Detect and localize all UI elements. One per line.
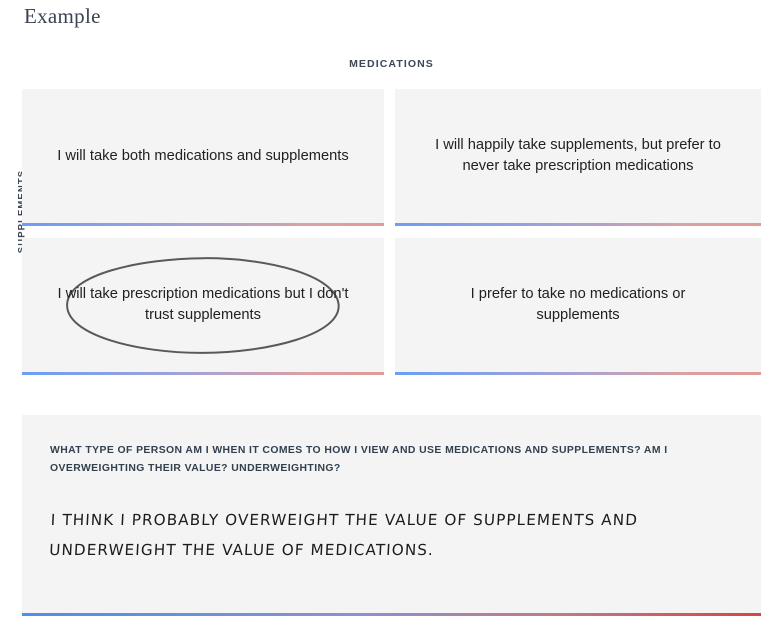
cell-accent-underline <box>22 223 384 226</box>
matrix-cell-top-right[interactable]: I will happily take supplements, but pre… <box>395 89 761 223</box>
matrix-top-axis-label: MEDICATIONS <box>22 58 761 70</box>
cell-accent-underline <box>395 223 761 226</box>
cell-accent-underline <box>395 372 761 375</box>
matrix-cell-bottom-left[interactable]: I will take prescription medications but… <box>22 238 384 372</box>
notes-panel[interactable]: WHAT TYPE OF PERSON AM I WHEN IT COMES T… <box>22 415 761 613</box>
notes-question-prompt: WHAT TYPE OF PERSON AM I WHEN IT COMES T… <box>50 442 690 478</box>
notes-answer-text[interactable]: I THINK I PROBABLY OVERWEIGHT THE VALUE … <box>48 506 734 565</box>
matrix-cell-label: I will take prescription medications but… <box>56 284 350 326</box>
matrix-cell-bottom-right[interactable]: I prefer to take no medications or suppl… <box>395 238 761 372</box>
matrix-grid: I will take both medications and supplem… <box>22 89 761 372</box>
cell-accent-underline <box>22 372 384 375</box>
page-title: Example <box>24 4 101 29</box>
matrix-cell-label: I will take both medications and supplem… <box>57 146 348 167</box>
notes-accent-underline <box>22 613 761 616</box>
matrix-cell-label: I will happily take supplements, but pre… <box>429 135 727 177</box>
matrix-cell-label: I prefer to take no medications or suppl… <box>429 284 727 326</box>
matrix-cell-top-left[interactable]: I will take both medications and supplem… <box>22 89 384 223</box>
